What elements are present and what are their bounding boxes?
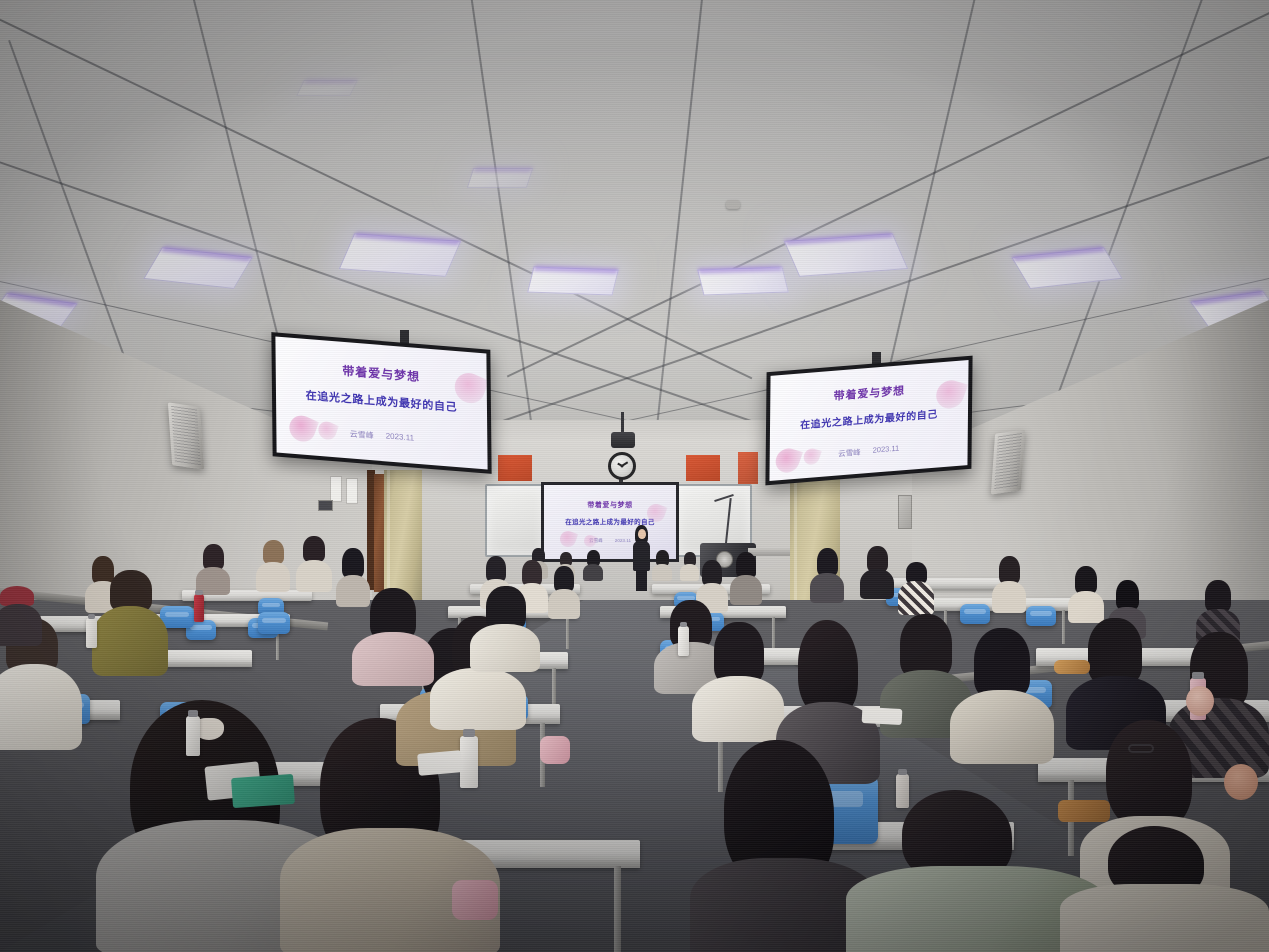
speaker-grill (171, 406, 201, 466)
chair (1026, 606, 1056, 626)
presenter-legs (636, 570, 647, 591)
water-bottle (896, 774, 909, 808)
slide-date: 2023.11 (873, 443, 900, 456)
audience-member (352, 588, 434, 682)
slide-meta: 云雪峰 2023.11 (350, 428, 414, 444)
presenter-torso (633, 541, 650, 571)
audience-member (810, 548, 844, 602)
pillar-highlight (794, 470, 797, 605)
blossom-decor (582, 534, 597, 549)
slide-meta: 云雪峰 2023.11 (838, 443, 899, 459)
person-shoulders (692, 676, 784, 742)
wall-mounted-box-right (898, 495, 912, 529)
chair-slot (964, 609, 986, 613)
person-cap (0, 586, 34, 606)
paper-sheet (417, 750, 463, 776)
bottle-cap (195, 590, 202, 594)
person-hair (817, 548, 838, 576)
audience-member (0, 586, 42, 644)
person-shoulders (470, 624, 540, 672)
audience-member (1060, 826, 1269, 952)
classroom-photo: 带着爱与梦想 在追光之路上成为最好的自己 云雪峰 2023.11 带着爱与梦想 … (0, 0, 1269, 952)
desk-leg (1062, 610, 1065, 644)
audience-member (1068, 566, 1104, 622)
plush-toy (1186, 686, 1214, 716)
person-hair (263, 540, 284, 564)
person-shoulders (256, 562, 290, 592)
slide-title-line1: 带着爱与梦想 (834, 382, 905, 404)
right-wall-tv: 带着爱与梦想 在追光之路上成为最好的自己 云雪峰 2023.11 (765, 356, 972, 486)
person-shoulders (950, 690, 1054, 764)
person-shoulders (730, 575, 762, 605)
presenter-head (638, 529, 646, 539)
blossom-decor (285, 411, 318, 446)
pillar-highlight (387, 470, 390, 600)
pink-item (540, 736, 570, 764)
person-shoulders (352, 632, 434, 686)
water-bottle (194, 594, 204, 622)
slide-presenter-name: 云雪峰 (838, 446, 861, 459)
ceiling-projector (611, 432, 635, 448)
pillar-left (384, 470, 422, 600)
presenter (628, 525, 654, 591)
left-wall-tv: 带着爱与梦想 在追光之路上成为最好的自己 云雪峰 2023.11 (271, 332, 491, 474)
water-bottle (460, 736, 478, 788)
bottle-cap (188, 710, 198, 716)
wall-notice-left-1 (330, 476, 342, 502)
blossom-decor (558, 529, 579, 550)
person-hair (303, 536, 325, 562)
wall-panel-red-right (686, 455, 720, 481)
audience-member (730, 552, 762, 604)
person-shoulders (0, 604, 42, 646)
person-shoulders (652, 564, 672, 581)
desk-leg (614, 866, 621, 952)
slide-title-line2: 在追光之路上成为最好的自己 (800, 405, 938, 431)
bottle-cap (88, 614, 96, 619)
paper-sheet (862, 707, 903, 725)
chair-slot (262, 618, 285, 623)
bottle-cap (898, 769, 907, 774)
speaker-grill (994, 433, 1022, 491)
wall-panel-red-left (498, 455, 532, 481)
audience-member (470, 586, 540, 668)
audience-member (256, 540, 290, 590)
person-shoulders (860, 569, 894, 599)
person-shoulders (92, 606, 168, 676)
person-shoulders (992, 581, 1026, 613)
audience-member (992, 556, 1026, 612)
pink-item (452, 880, 498, 920)
eyeglasses-icon (1128, 744, 1154, 753)
chair-slot (1030, 611, 1052, 615)
audience-member (898, 562, 934, 614)
snack-item (1054, 660, 1090, 674)
chair-slot (262, 603, 281, 607)
bottle-cap (1192, 672, 1204, 679)
water-bottle (186, 716, 200, 756)
wall-speaker-left (168, 402, 204, 469)
slide-date: 2023.11 (386, 431, 414, 444)
person-hair (1106, 720, 1192, 830)
audience-member (296, 536, 332, 590)
audience-member (950, 628, 1054, 760)
person-hair (714, 622, 764, 684)
person-hair (900, 614, 952, 678)
blossom-decor (316, 419, 339, 443)
wall-clock (608, 452, 636, 480)
snack-item (1058, 800, 1110, 822)
person-shoulders (430, 668, 526, 730)
slide-presenter-name: 云雪峰 (350, 428, 374, 441)
audience-member (652, 550, 672, 580)
person-hair (999, 556, 1020, 584)
person-shoulders (898, 581, 934, 615)
person-shoulders (0, 664, 82, 750)
person-hair (1116, 580, 1139, 610)
chair-slot (165, 612, 190, 617)
person-shoulders (810, 573, 844, 603)
person-shoulders (296, 560, 332, 592)
person-hair (1205, 580, 1231, 612)
plush-toy (1224, 764, 1258, 800)
wall-mounted-box-left (318, 500, 333, 511)
audience-member (860, 546, 894, 598)
slide-title-line1: 带着爱与梦想 (342, 361, 420, 384)
audience-member (196, 544, 230, 594)
wall-panel-red-far-right (738, 452, 758, 484)
person-shoulders (583, 564, 603, 581)
tv-screen-right: 带着爱与梦想 在追光之路上成为最好的自己 云雪峰 2023.11 (769, 360, 968, 481)
audience-member (548, 566, 580, 618)
person-hair (974, 628, 1030, 698)
slide-title-line2: 在追光之路上成为最好的自己 (306, 386, 458, 414)
slide-title-line1: 带着爱与梦想 (587, 500, 632, 510)
tv-screen-left: 带着爱与梦想 在追光之路上成为最好的自己 云雪峰 2023.11 (275, 336, 487, 469)
wall-speaker-right (991, 429, 1025, 494)
person-hair (1088, 618, 1142, 684)
blossom-decor (772, 445, 803, 475)
blossom-decor (801, 446, 822, 466)
water-bottle (678, 626, 689, 656)
wall-notice-left-2 (346, 478, 358, 504)
notebook (231, 774, 295, 808)
clock-center-cap (621, 465, 624, 468)
person-shoulders (1060, 884, 1269, 952)
desk-leg (566, 617, 569, 649)
person-hair (342, 548, 364, 578)
whiteboard-left (485, 484, 545, 557)
water-bottle (86, 618, 97, 648)
audience-member (92, 570, 168, 674)
bottle-cap (680, 622, 688, 627)
audience-member (692, 622, 784, 738)
chair-slot (190, 625, 212, 629)
chair (258, 612, 290, 634)
audience-member (583, 550, 603, 580)
bottle-cap (463, 729, 476, 737)
person-hair (1075, 566, 1097, 594)
person-shoulders (548, 589, 580, 619)
